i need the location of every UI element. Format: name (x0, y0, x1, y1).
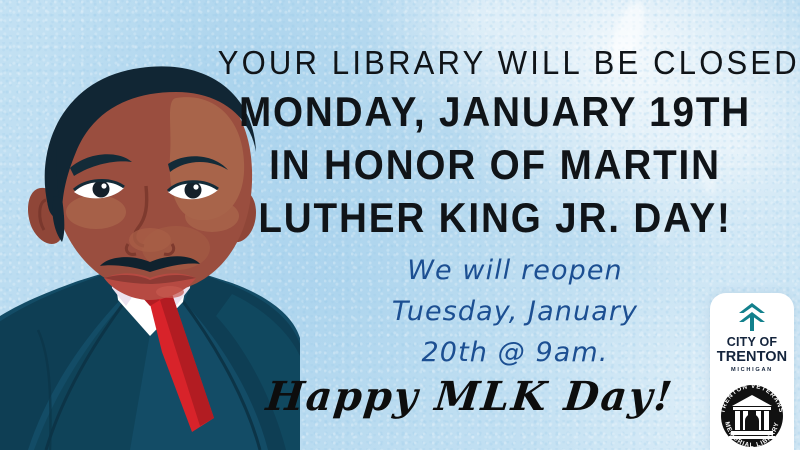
greeting-text: Happy MLK Day! (248, 373, 693, 420)
logo-trenton-text: TRENTON (717, 349, 788, 365)
reopen-line-1: We will reopen (300, 255, 730, 286)
left-pupil (93, 181, 110, 198)
reopen-line-3: 20th @ 9am. (300, 337, 730, 368)
nose-tip (129, 228, 171, 252)
headline-line-4: LUTHER KING JR. DAY! (224, 194, 767, 242)
reopen-line-2: Tuesday, January (300, 296, 730, 327)
library-closure-poster: YOUR LIBRARY WILL BE CLOSED MONDAY, JANU… (0, 0, 800, 450)
headline-line-3: IN HONOR OF MARTIN (224, 141, 767, 189)
logo-michigan-text: MICHIGAN (731, 367, 773, 373)
left-eye-glint (101, 183, 106, 188)
trenton-veterans-memorial-library-seal: TRENTON VETERANS MEMORIAL LIBRARY (714, 378, 790, 450)
tree-icon (735, 302, 769, 332)
headline-line-1: YOUR LIBRARY WILL BE CLOSED (218, 44, 773, 82)
logo-city-of-text: CITY OF (727, 335, 777, 349)
right-pupil (185, 182, 202, 199)
left-cheek-blush (66, 195, 126, 229)
headline-line-2: MONDAY, JANUARY 19TH (224, 88, 767, 136)
lower-lip-highlight (156, 286, 184, 298)
right-eye-glint (193, 184, 198, 189)
seal-doorway (745, 414, 759, 430)
city-of-trenton-logo-card: CITY OF TRENTON MICHIGAN TRENTON (710, 293, 794, 450)
